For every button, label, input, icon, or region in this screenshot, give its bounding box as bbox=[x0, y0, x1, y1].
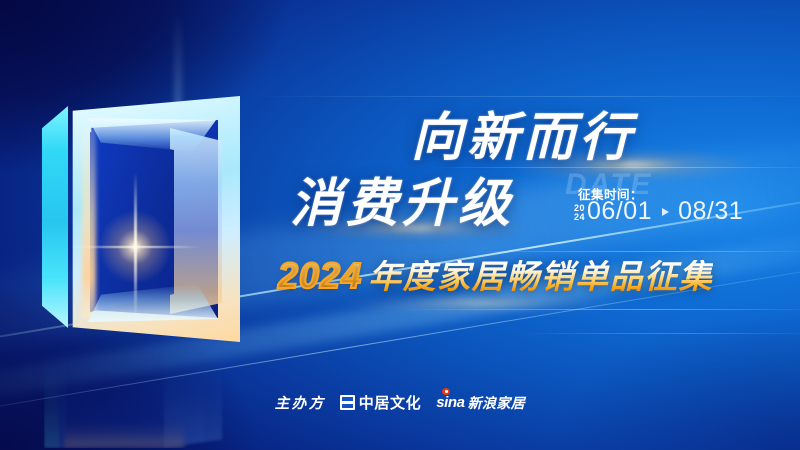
sina-eye-icon bbox=[442, 388, 450, 395]
zhongju-name: 中居文化 bbox=[359, 392, 421, 413]
headline-line-1: 向新而行 bbox=[411, 112, 635, 164]
organizer-label: 主办方 bbox=[275, 392, 326, 413]
banner-content: 向新而行 消费升级 DATE 征集时间： 20 24 06/01 08/31 2… bbox=[0, 0, 800, 450]
organizer-sina: sina 新浪家居 bbox=[435, 393, 525, 413]
subtitle-year: 2024 bbox=[278, 258, 362, 294]
date-year: 20 24 bbox=[574, 201, 585, 222]
headline-line-2: 消费升级 bbox=[290, 178, 514, 230]
subtitle: 2024 年度家居畅销单品征集 bbox=[278, 258, 713, 294]
date-range: 20 24 06/01 08/31 bbox=[574, 199, 743, 224]
sina-home-name: 新浪家居 bbox=[468, 393, 526, 413]
zhongju-logo-icon bbox=[340, 395, 355, 410]
date-start: 06/01 bbox=[587, 199, 652, 224]
date-separator-icon bbox=[662, 208, 669, 216]
subtitle-text: 年度家居畅销单品征集 bbox=[368, 260, 713, 293]
footer-organizers: 主办方 中居文化 sina 新浪家居 bbox=[0, 392, 800, 413]
date-year-bottom: 24 bbox=[574, 213, 585, 222]
date-end: 08/31 bbox=[678, 199, 743, 224]
organizer-zhongju: 中居文化 bbox=[340, 392, 421, 413]
sina-logo: sina bbox=[435, 394, 464, 411]
sina-wordmark: sina bbox=[436, 394, 464, 411]
promo-banner: 向新而行 消费升级 DATE 征集时间： 20 24 06/01 08/31 2… bbox=[0, 0, 800, 450]
